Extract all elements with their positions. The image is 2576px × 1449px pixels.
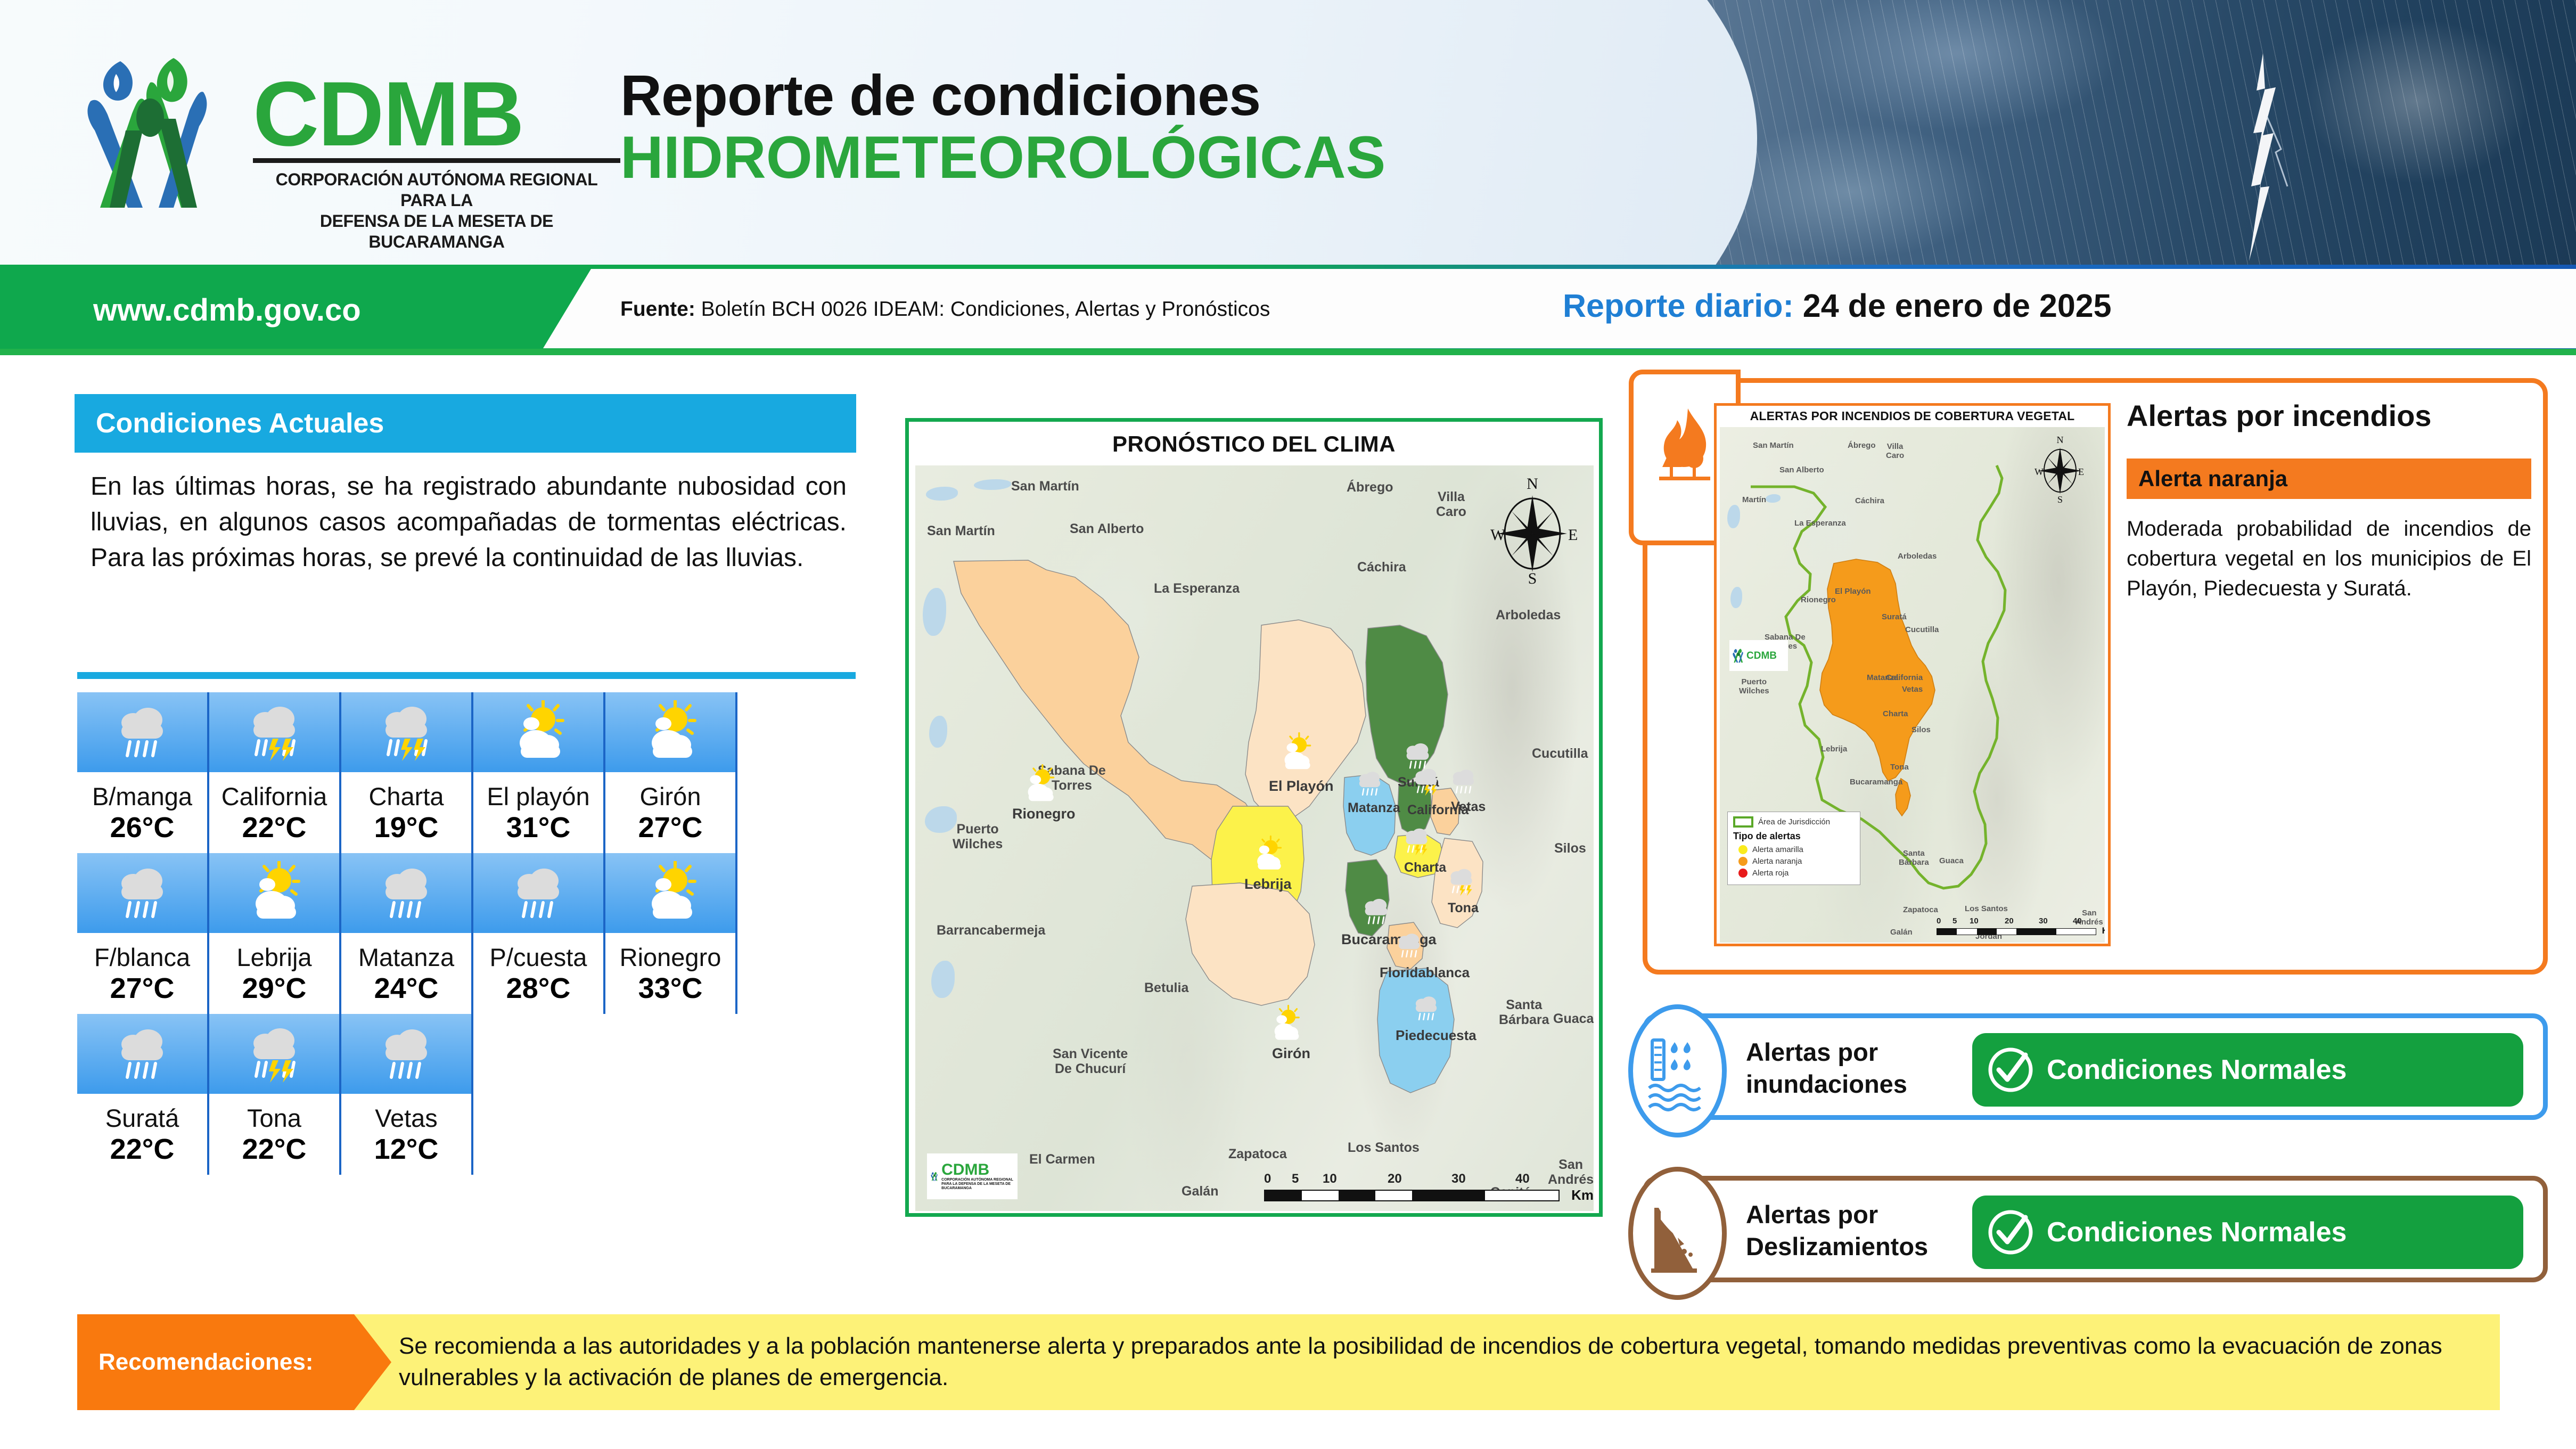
jurisdiction-swatch (1733, 816, 1753, 828)
sun-cloud-icon (1020, 764, 1059, 805)
temperature-label-cell: Rionegro 33°C (605, 933, 737, 1014)
svg-text:N: N (2057, 435, 2064, 445)
report-date-value: 24 de enero de 2025 (1803, 288, 2112, 324)
municipality-name: P/cuesta (490, 945, 587, 970)
temperature-cell[interactable]: P/cuesta 28°C (473, 853, 605, 1014)
alert-orange-swatch (1738, 857, 1748, 866)
weather-icon-cell (77, 853, 209, 933)
rain-cloud-icon (113, 861, 171, 925)
weather-icon-cell (77, 1014, 209, 1094)
water-level-gauge-icon (1647, 1036, 1703, 1116)
flood-alert-box: Alertas por inundaciones Condiciones Nor… (1643, 1013, 2548, 1120)
alert-yellow-label: Alerta amarilla (1752, 845, 1803, 854)
temperature-label-cell: B/manga 26°C (77, 772, 209, 853)
temperature-label-cell: El playón 31°C (473, 772, 605, 853)
temperature-cell[interactable]: Suratá 22°C (77, 1014, 209, 1175)
fire-map-legend: Área de Jurisdicción Tipo de alertas Ale… (1727, 812, 1860, 885)
weather-icon-cell (209, 1014, 341, 1094)
svg-text:S: S (1528, 570, 1537, 586)
thunderstorm-icon (377, 700, 436, 764)
jurisdiction-label: Área de Jurisdicción (1758, 817, 1830, 826)
temperature-cell[interactable]: F/blanca 27°C (77, 853, 209, 1014)
weather-icon-cell (209, 692, 341, 772)
flood-badge (1628, 1004, 1727, 1137)
temperature-label-cell: Matanza 24°C (341, 933, 473, 1014)
municipality-name: Matanza (358, 945, 454, 970)
fire-map-title: ALERTAS POR INCENDIOS DE COBERTURA VEGET… (1717, 409, 2108, 423)
cdmb-logo-mark-icon (930, 1163, 938, 1190)
rain-cloud-icon (1410, 992, 1441, 1025)
municipality-temperature-grid: B/manga 26°C California 22°C (77, 692, 737, 1175)
thunderstorm-icon (245, 700, 303, 764)
website-url[interactable]: www.cdmb.gov.co (93, 292, 361, 328)
sun-cloud-icon (1267, 1004, 1304, 1044)
conditions-divider (77, 672, 856, 679)
recommendations-body: Se recomienda a las autoridades y a la p… (354, 1314, 2500, 1410)
municipality-name: Vetas (375, 1106, 438, 1131)
legend-title: Tipo de alertas (1733, 831, 1855, 842)
fire-map-logo-acronym: CDMB (1746, 651, 1777, 661)
municipality-temperature: 33°C (638, 973, 703, 1004)
logo-subtitle-line1: CORPORACIÓN AUTÓNOMA REGIONAL PARA LA (253, 169, 620, 211)
thunderstorm-icon (1410, 764, 1441, 799)
rain-texture (1692, 0, 2576, 266)
landslide-status-badge: Condiciones Normales (1972, 1196, 2523, 1269)
municipality-temperature: 29°C (242, 973, 307, 1004)
sun-cloud-icon (509, 700, 568, 764)
cdmb-logo-mark-icon (1732, 646, 1744, 665)
fire-alerts-info: Alertas por incendios Alerta naranja Mod… (2127, 399, 2531, 603)
weather-icon-cell (605, 853, 737, 933)
municipality-temperature: 27°C (110, 973, 175, 1004)
info-banner: www.cdmb.gov.co Fuente: Boletín BCH 0026… (0, 265, 2576, 353)
landslide-badge (1628, 1167, 1727, 1300)
municipality-name: B/manga (92, 784, 192, 809)
municipality-temperature: 22°C (242, 1134, 307, 1165)
temperature-cell[interactable]: El playón 31°C (473, 692, 605, 853)
alert-red-swatch (1738, 869, 1748, 878)
alert-orange-label: Alerta naranja (1752, 857, 1802, 866)
source-label: Fuente: (620, 298, 695, 321)
temperature-cell[interactable]: B/manga 26°C (77, 692, 209, 853)
fire-alerts-title: Alertas por incendios (2127, 399, 2531, 433)
rain-cloud-icon (1359, 894, 1392, 929)
municipality-name: California (221, 784, 327, 809)
temperature-cell[interactable]: Girón 27°C (605, 692, 737, 853)
sun-cloud-icon (1250, 835, 1286, 873)
map-scale-bar: 0510 203040 Km (1264, 1172, 1560, 1201)
check-circle-icon (1986, 1045, 2035, 1094)
svg-text:W: W (1490, 526, 1506, 544)
fire-map-cdmb-logo: CDMB (1729, 640, 1788, 671)
temperature-label-cell: Charta 19°C (341, 772, 473, 853)
weather-forecast-map-panel: PRONÓSTICO DEL CLIMA (905, 418, 1603, 1217)
landslide-alert-box: Alertas por Deslizamientos Condiciones N… (1643, 1176, 2548, 1282)
svg-text:N: N (1527, 475, 1538, 493)
rain-cloud-icon (1448, 765, 1479, 798)
sun-cloud-icon (641, 861, 700, 925)
weather-icon-cell (605, 692, 737, 772)
report-title-line2: HIDROMETEOROLÓGICAS (620, 126, 1385, 189)
temperature-cell[interactable]: Rionegro 33°C (605, 853, 737, 1014)
municipality-temperature: 22°C (242, 812, 307, 844)
source-value: Boletín BCH 0026 IDEAM: Condiciones, Ale… (701, 298, 1270, 321)
temperature-cell[interactable]: Lebrija 29°C (209, 853, 341, 1014)
alert-yellow-swatch (1738, 845, 1748, 854)
municipality-temperature: 12°C (374, 1134, 439, 1165)
weather-icon-cell (473, 853, 605, 933)
source-text: Fuente: Boletín BCH 0026 IDEAM: Condicio… (620, 298, 1270, 321)
report-date-label: Reporte diario: (1563, 288, 1794, 324)
temperature-label-cell: Lebrija 29°C (209, 933, 341, 1014)
current-conditions-header: Condiciones Actuales (75, 394, 856, 453)
fire-alerts-panel: ALERTAS POR INCENDIOS DE COBERTURA VEGET… (1643, 378, 2548, 975)
alert-red-label: Alerta roja (1752, 869, 1789, 878)
municipality-temperature: 26°C (110, 812, 175, 844)
temperature-cell-empty (473, 1014, 605, 1175)
report-title: Reporte de condiciones HIDROMETEOROLÓGIC… (620, 67, 1385, 189)
temperature-cell[interactable]: Charta 19°C (341, 692, 473, 853)
cdmb-logo-mark-icon (69, 51, 245, 210)
thunderstorm-icon (1446, 864, 1476, 899)
storm-photo (1692, 0, 2576, 266)
flood-status-badge: Condiciones Normales (1972, 1033, 2523, 1107)
rain-cloud-icon (1393, 929, 1424, 962)
municipality-name: El playón (487, 784, 589, 809)
sun-cloud-icon (1276, 732, 1316, 773)
lightning-bolt-icon (2230, 53, 2294, 261)
temperature-cell[interactable]: Matanza 24°C (341, 853, 473, 1014)
check-circle-icon (1986, 1208, 2035, 1257)
recommendations-tag: Recomendaciones: (77, 1314, 391, 1410)
recommendations-bar: Se recomienda a las autoridades y a la p… (77, 1314, 2500, 1410)
cdmb-logo: CDMB CORPORACIÓN AUTÓNOMA REGIONAL PARA … (69, 51, 612, 210)
municipality-temperature: 27°C (638, 812, 703, 844)
sun-cloud-icon (641, 700, 700, 764)
fire-map-canvas: San Martín Ábrego VillaCaro San Alberto … (1720, 427, 2105, 943)
rain-cloud-icon (377, 861, 436, 925)
municipality-name: F/blanca (94, 945, 190, 970)
fire-alerts-map[interactable]: ALERTAS POR INCENDIOS DE COBERTURA VEGET… (1714, 403, 2111, 946)
temperature-cell[interactable]: Vetas 12°C (341, 1014, 473, 1175)
weather-icon-cell (341, 1014, 473, 1094)
recommendations-label: Recomendaciones: (99, 1349, 313, 1376)
banner-underline (0, 349, 2576, 355)
temperature-label-cell: P/cuesta 28°C (473, 933, 605, 1014)
landslide-icon (1647, 1198, 1703, 1278)
report-date: Reporte diario: 24 de enero de 2025 (1563, 287, 2112, 324)
temperature-label-cell: Suratá 22°C (77, 1094, 209, 1175)
current-conditions-title: Condiciones Actuales (96, 407, 384, 439)
fire-alert-level-badge: Alerta naranja (2127, 459, 2531, 499)
wildfire-icon (1654, 407, 1718, 487)
compass-rose-icon: N S W E (1487, 474, 1578, 586)
weather-icon-cell (341, 692, 473, 772)
weather-icon-cell (341, 853, 473, 933)
temperature-label-cell: Tona 22°C (209, 1094, 341, 1175)
sun-cloud-icon (245, 861, 303, 925)
page-header: CDMB CORPORACIÓN AUTÓNOMA REGIONAL PARA … (0, 0, 2576, 266)
fire-alert-description: Moderada probabilidad de incendios de co… (2127, 514, 2531, 603)
municipality-name: Girón (640, 784, 701, 809)
map-logo-subtitle: CORPORACIÓN AUTÓNOMA REGIONAL PARA LA DE… (941, 1178, 1014, 1190)
municipality-temperature: 24°C (374, 973, 439, 1004)
rain-cloud-icon (509, 861, 568, 925)
logo-acronym: CDMB (253, 72, 620, 156)
weather-icon-cell (77, 692, 209, 772)
temperature-label-cell: California 22°C (209, 772, 341, 853)
flood-status-text: Condiciones Normales (2047, 1054, 2347, 1086)
report-title-line1: Reporte de condiciones (620, 67, 1385, 124)
thunderstorm-icon (1401, 823, 1432, 858)
temperature-cell[interactable]: California 22°C (209, 692, 341, 853)
fire-scale-unit: Km (2102, 926, 2105, 936)
fire-map-scale-bar: 0510 203040 Km (1937, 916, 2096, 935)
scale-unit: Km (1571, 1187, 1594, 1204)
current-conditions-text: En las últimas horas, se ha registrado a… (91, 469, 847, 576)
landslide-alert-label: Alertas por Deslizamientos (1746, 1199, 1970, 1263)
municipality-name: Suratá (105, 1106, 179, 1131)
municipality-temperature: 31°C (506, 812, 571, 844)
municipality-temperature: 22°C (110, 1134, 175, 1165)
municipality-name: Lebrija (236, 945, 311, 970)
rain-cloud-icon (1354, 767, 1385, 800)
rain-cloud-icon (377, 1022, 436, 1086)
rain-cloud-icon (113, 700, 171, 764)
map-logo-acronym: CDMB (941, 1162, 1014, 1178)
svg-text:S: S (2057, 494, 2063, 504)
weather-icon-cell (473, 692, 605, 772)
thunderstorm-icon (245, 1022, 303, 1086)
compass-rose-icon: N S W E (2033, 435, 2087, 504)
weather-map-title: PRONÓSTICO DEL CLIMA (909, 431, 1599, 457)
weather-icon-cell (209, 853, 341, 933)
svg-text:E: E (2078, 466, 2084, 477)
municipality-name: Charta (368, 784, 444, 809)
temperature-cell-empty (605, 1014, 737, 1175)
map-cdmb-logo: CDMB CORPORACIÓN AUTÓNOMA REGIONAL PARA … (927, 1153, 1018, 1199)
municipality-temperature: 28°C (506, 973, 571, 1004)
landslide-status-text: Condiciones Normales (2047, 1216, 2347, 1248)
svg-text:W: W (2034, 466, 2044, 477)
rain-cloud-icon (113, 1022, 171, 1086)
logo-subtitle-line2: DEFENSA DE LA MESETA DE BUCARAMANGA (253, 211, 620, 252)
svg-text:E: E (1568, 526, 1578, 544)
temperature-cell[interactable]: Tona 22°C (209, 1014, 341, 1175)
weather-map-canvas[interactable]: San Martín San Martín San Alberto Ábrego… (915, 465, 1594, 1211)
municipality-name: Tona (247, 1106, 301, 1131)
recommendations-text: Se recomienda a las autoridades y a la p… (399, 1331, 2454, 1394)
temperature-label-cell: Vetas 12°C (341, 1094, 473, 1175)
municipality-name: Rionegro (620, 945, 721, 970)
municipality-temperature: 19°C (374, 812, 439, 844)
flood-alert-label: Alertas por inundaciones (1746, 1036, 1970, 1100)
temperature-label-cell: F/blanca 27°C (77, 933, 209, 1014)
temperature-label-cell: Girón 27°C (605, 772, 737, 853)
